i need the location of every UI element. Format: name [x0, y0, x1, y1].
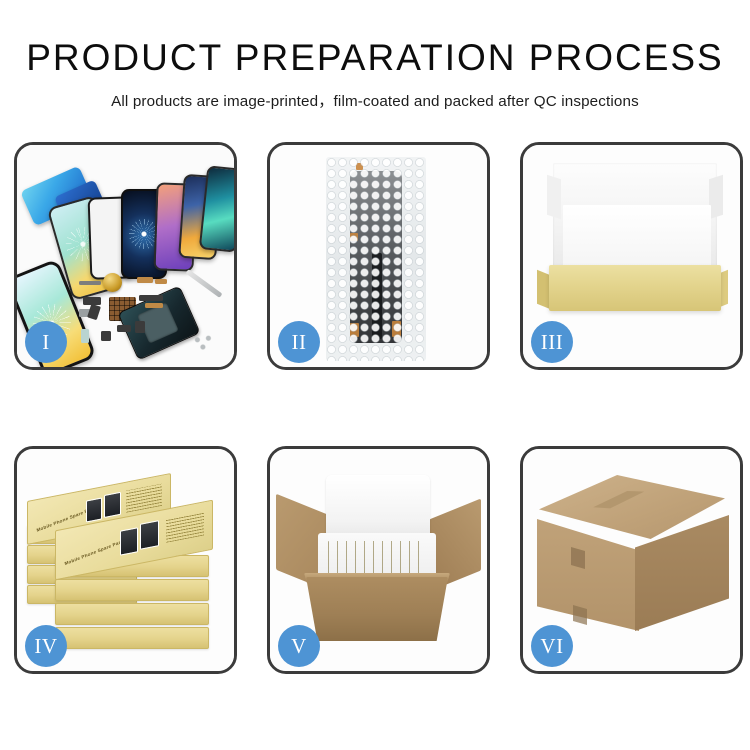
box-feature-lines — [166, 511, 204, 542]
gold-coil-part — [103, 273, 122, 292]
stacked-box — [55, 603, 209, 625]
connector-part — [145, 303, 163, 308]
step-badge-1: I — [25, 321, 67, 363]
bubble-wrap-bag — [326, 157, 426, 361]
process-step-panel-1: I — [14, 142, 237, 370]
step-badge-3: III — [531, 321, 573, 363]
page-title: PRODUCT PREPARATION PROCESS — [0, 36, 750, 80]
flex-cable-part-2 — [155, 279, 167, 284]
foam-cooler-lid — [326, 475, 430, 541]
box-phone-image-1 — [86, 497, 102, 522]
box-label-text: Mobile Phone Spare Parts — [64, 538, 125, 566]
process-step-panel-5: V — [267, 446, 490, 674]
screws-group — [193, 335, 215, 351]
battery-part — [81, 329, 89, 343]
process-step-panel-4: Mobile Phone Spare Parts Mobile Phone Sp… — [14, 446, 237, 674]
step-badge-5: V — [278, 625, 320, 667]
carton-body — [306, 577, 448, 641]
box-phone-image-1 — [120, 527, 138, 555]
antenna-flex-part — [139, 295, 163, 301]
process-step-panel-3: III — [520, 142, 743, 370]
step-badge-6: VI — [531, 625, 573, 667]
process-step-grid: I II III — [14, 142, 737, 674]
white-foam-sheet — [563, 205, 711, 273]
carton-tape-patch-1 — [571, 547, 585, 569]
yellow-box-base — [549, 265, 721, 311]
box-phone-image-2 — [104, 492, 121, 518]
page-subtitle: All products are image-printed，film-coat… — [0, 89, 750, 111]
process-step-panel-2: II — [267, 142, 490, 370]
header: PRODUCT PREPARATION PROCESS All products… — [0, 0, 750, 111]
carton-tape-patch-2 — [573, 605, 587, 625]
sim-tray-part — [135, 321, 145, 333]
vibrator-part — [117, 325, 131, 332]
box-feature-lines — [126, 484, 162, 513]
stacked-box — [55, 579, 209, 601]
speaker-part — [79, 281, 101, 285]
flex-cable-part-1 — [137, 277, 153, 283]
stacked-box — [55, 627, 209, 649]
step-badge-4: IV — [25, 625, 67, 667]
button-part — [101, 331, 111, 341]
bubble-texture — [326, 157, 426, 361]
box-phone-image-2 — [140, 520, 159, 550]
step-badge-2: II — [278, 321, 320, 363]
process-step-panel-6: VI — [520, 446, 743, 674]
carton-front-face — [537, 519, 639, 631]
